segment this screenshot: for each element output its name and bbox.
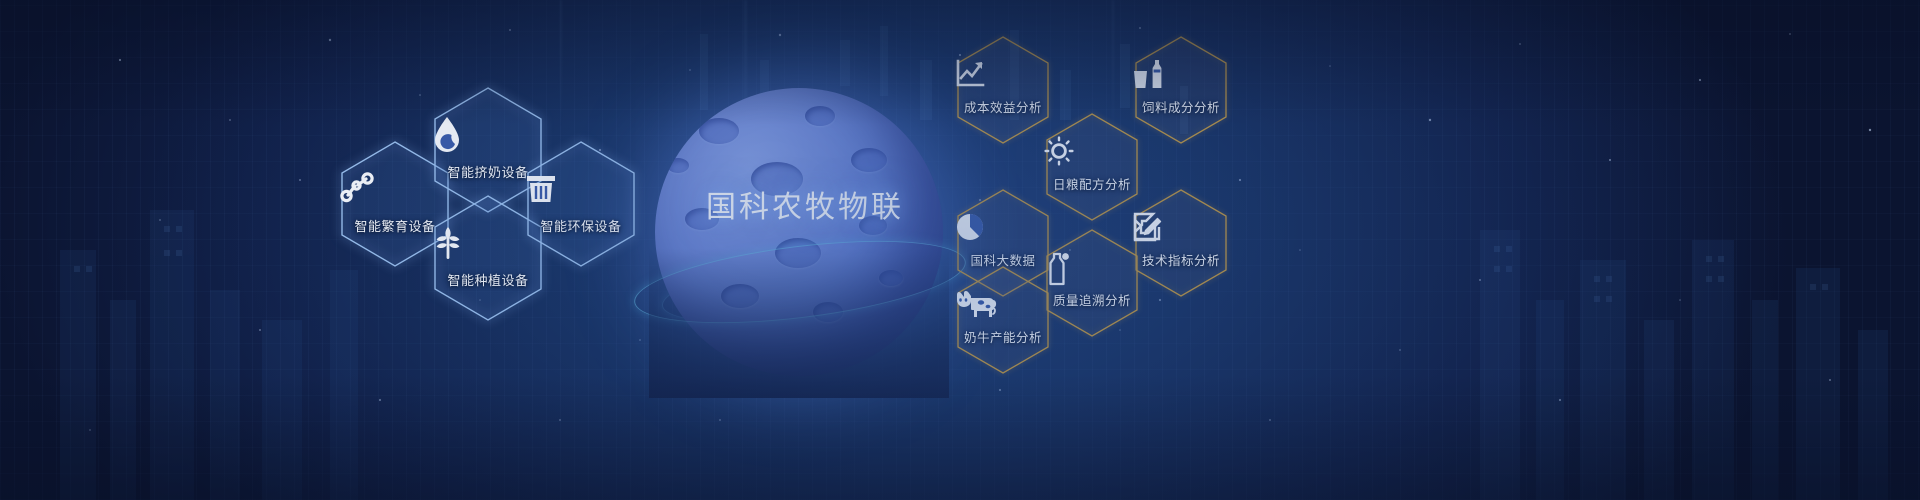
central-planet [655,88,955,388]
hex-dairy-cow-capacity-analysis[interactable]: 奶牛产能分析 [955,265,1051,375]
hex-label: 奶牛产能分析 [933,327,1073,346]
hex-technical-indicator-analysis[interactable]: 技术指标分析 [1133,188,1229,298]
planet-orbit-inner [658,243,939,334]
trash-bin-icon [525,170,637,208]
planet-sphere [655,88,943,376]
hex-feed-composition-analysis[interactable]: 饲料成分分析 [1133,35,1229,145]
edit-pencil-icon [1133,212,1229,244]
planet-bottom-fade [649,248,949,398]
hex-smart-environmental-equipment[interactable]: 智能环保设备 [525,140,637,268]
hex-quality-traceability-analysis[interactable]: 质量追溯分析 [1044,228,1140,338]
planet-craters [655,88,943,376]
cow-icon [955,289,1051,321]
hex-label: 智能环保设备 [503,216,659,235]
background-light-beam [560,0,562,150]
pie-chart-icon [955,212,1051,244]
sun-brightness-icon [1044,136,1140,168]
milk-bottle-icon [1044,252,1140,284]
hex-label: 智能种植设备 [410,270,566,289]
bottle-glass-icon [1133,59,1229,91]
hex-cost-benefit-analysis[interactable]: 成本效益分析 [955,35,1051,145]
hex-daily-ration-formula-analysis[interactable]: 日粮配方分析 [1044,112,1140,222]
line-chart-icon [955,59,1051,91]
iot-platform-banner: 国科农牧物联 智能繁育设备 [0,0,1920,500]
page-title: 国科农牧物联 [655,182,955,226]
planet-orbit-outer [630,226,970,338]
